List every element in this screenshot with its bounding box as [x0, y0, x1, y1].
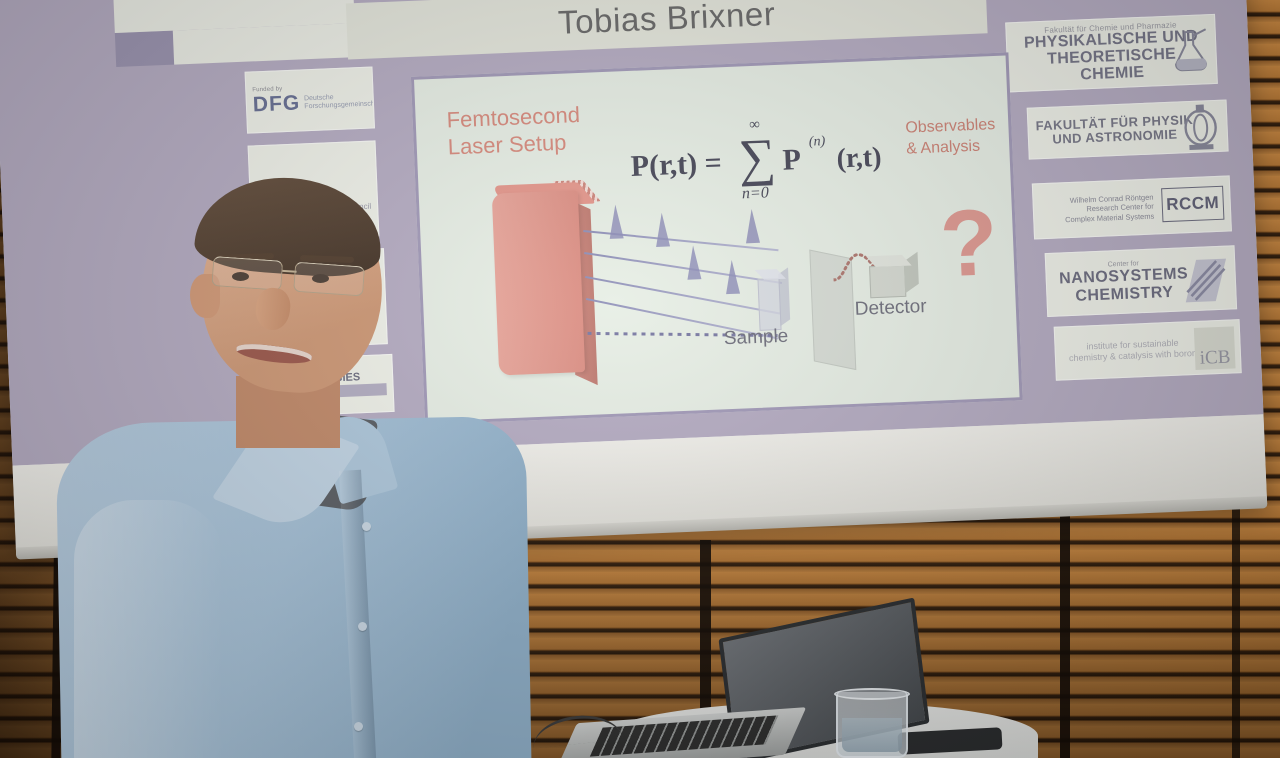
polarization-equation: P(r,t) = ∞ ∑ n=0 P (n) (r,t)	[629, 115, 903, 222]
dfg-subtitle: Deutsche Forschungsgemeinschaft	[304, 93, 375, 111]
university-color-tab	[115, 31, 174, 67]
sample-label: Sample	[723, 326, 788, 351]
telescope-icon	[1178, 104, 1224, 152]
icb-abbreviation: iCB	[1194, 326, 1236, 370]
rccm-abbreviation: RCCM	[1161, 186, 1224, 223]
logo-dfg: Funded by DFG Deutsche Forschungsgemeins…	[245, 66, 375, 133]
nanotube-icon	[1178, 250, 1234, 308]
logo-fakultaet-physik-astronomie: FAKULTÄT FÜR PHYSIK UND ASTRONOMIE	[1027, 99, 1229, 159]
speaker	[60, 170, 580, 758]
sample-cube	[757, 278, 781, 331]
observables-label: Observables & Analysis	[905, 114, 1027, 160]
logo-nanosystems-chemistry: Center for NANOSYSTEMS CHEMISTRY	[1045, 245, 1237, 317]
flask-icon	[1169, 27, 1211, 73]
presenter-name: Tobias Brixner	[557, 0, 776, 42]
equation-rhs-symbol: P	[782, 143, 802, 178]
dfg-wordmark: DFG	[252, 91, 300, 117]
water-level	[842, 718, 902, 752]
equation-rhs-superscript: (n)	[809, 134, 826, 151]
femtosecond-laser-label: Femtosecond Laser Setup	[446, 100, 628, 161]
glasses-lens-right	[293, 262, 365, 297]
screen-stand-post	[1060, 515, 1070, 758]
shirt-button	[354, 722, 363, 731]
detector-label: Detector	[854, 296, 927, 321]
logo-physikalische-theoretische-chemie: Fakultät für Chemie und Pharmazie PHYSIK…	[1005, 14, 1218, 93]
water-glass	[836, 692, 908, 758]
shirt-button	[362, 522, 371, 531]
detector-cube	[869, 265, 906, 298]
logo-institute-sustainable-chemistry: institute for sustainable chemistry & ca…	[1054, 319, 1242, 381]
speaker-arm-highlight	[74, 500, 224, 758]
question-mark-icon: ?	[938, 195, 999, 291]
equation-sigma: ∑	[737, 128, 776, 188]
equation-lhs: P(r,t) =	[630, 146, 722, 184]
logo-rccm: Wilhelm Conrad Röntgen Research Center f…	[1032, 175, 1232, 239]
glass-rim	[834, 688, 910, 700]
equation-rhs-args: (r,t)	[836, 142, 882, 176]
photo-canvas: ...tics Julius-Maximilians- UNIVERSITÄT …	[0, 0, 1280, 758]
equation-lower-limit: n=0	[742, 184, 770, 203]
glasses-lens-left	[211, 256, 283, 291]
laser-beam-group	[583, 211, 849, 372]
shirt-button	[358, 622, 367, 631]
